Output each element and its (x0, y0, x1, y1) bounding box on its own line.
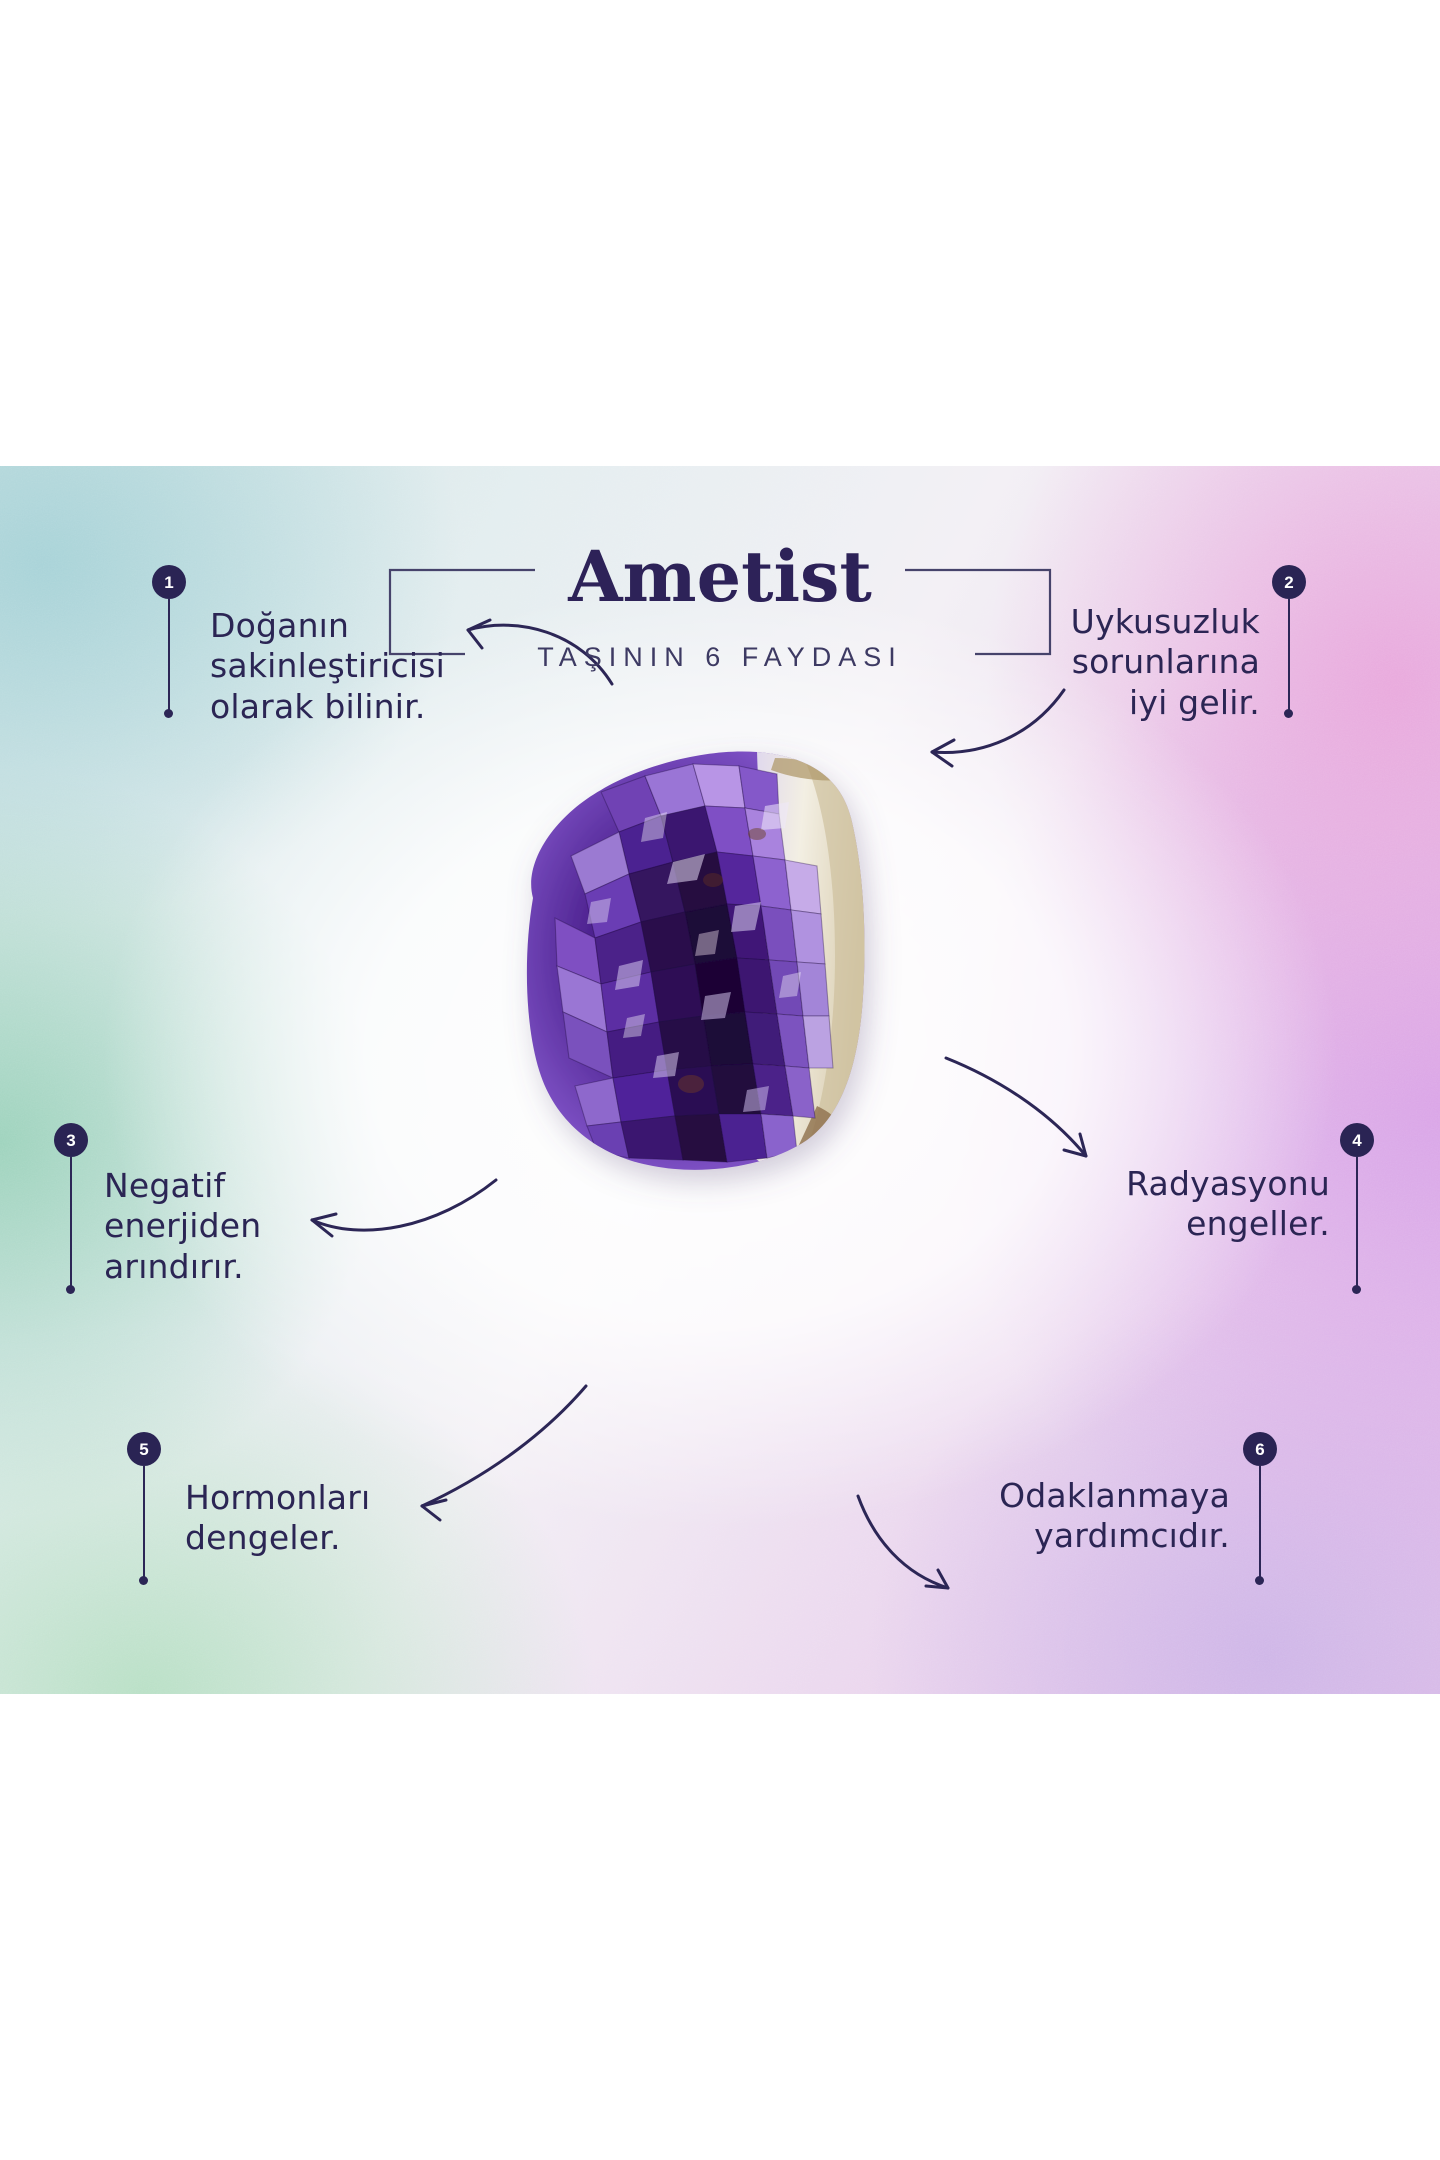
benefit-6-pin-end (1255, 1576, 1264, 1585)
poster-root: Ametist TAŞININ 6 FAYDASI (0, 0, 1440, 2160)
benefit-6-text: Odaklanmaya yardımcıdır. (930, 1476, 1230, 1557)
page-subtitle: TAŞININ 6 FAYDASI (370, 642, 1070, 673)
page-subtitle-text: TAŞININ 6 FAYDASI (523, 642, 917, 673)
title-block: Ametist TAŞININ 6 FAYDASI (370, 546, 1070, 676)
benefit-6-number: 6 (1255, 1441, 1264, 1458)
page-title-text: Ametist (552, 540, 888, 614)
infographic-card: Ametist TAŞININ 6 FAYDASI (0, 466, 1440, 1694)
benefit-6-pin-line (1259, 1466, 1261, 1578)
benefit-6-number-badge: 6 (1243, 1432, 1277, 1466)
page-title: Ametist (370, 540, 1070, 614)
